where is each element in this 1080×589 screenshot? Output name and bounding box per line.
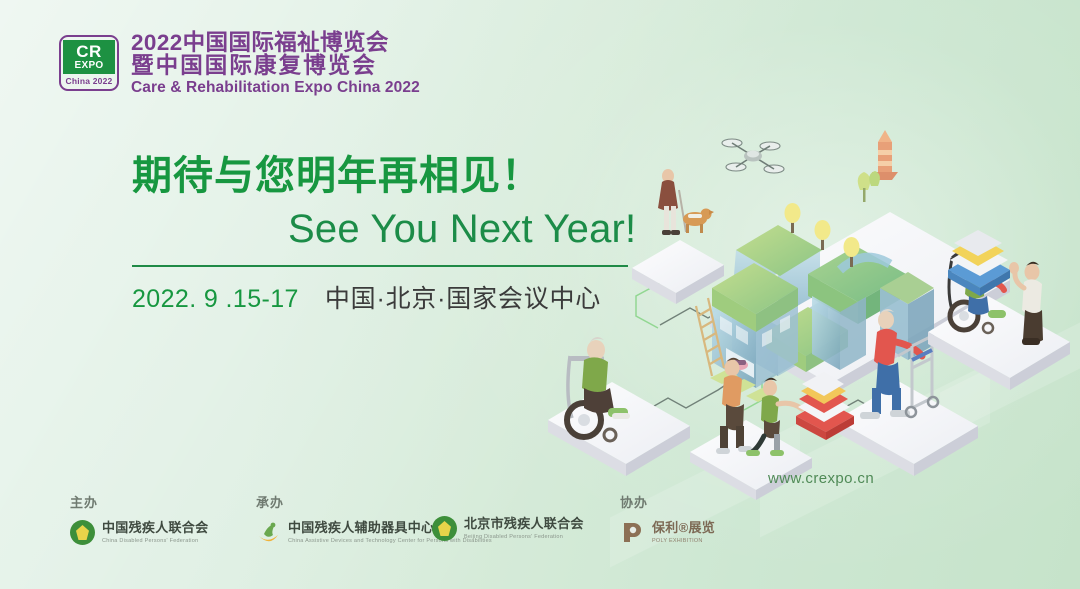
platform-child-wheelchair (928, 252, 1070, 390)
floor-tiles (710, 370, 774, 402)
obelisk-monument (872, 130, 898, 180)
logo-china-year-text: China 2022 (66, 76, 113, 86)
sponsor-logo-row: 北京市残疾人联合会 Beijing Disabled Persons' Fede… (432, 516, 584, 541)
plum-blossom-emblem-icon (70, 520, 95, 545)
rooftop-trees (785, 171, 880, 267)
cr-letter-building (712, 225, 934, 388)
stacked-book-blocks-blue (948, 230, 1010, 296)
bg-ghost-panel-3 (940, 307, 1080, 438)
figure-runner-adult (716, 358, 752, 454)
sponsor-name-en: POLY EXHIBITION (652, 538, 715, 544)
platform-rolling-walker (836, 309, 978, 476)
sponsor-name-cn: 保利®展览 (652, 521, 715, 536)
plum-blossom-emblem-icon (432, 516, 457, 541)
sponsor-group-coorganizer: 协办 保利®展览 POLY EXHIBITION (620, 492, 715, 545)
event-date: 2022. 9 .15-17 (132, 285, 299, 314)
poly-exhibition-emblem-icon (620, 520, 645, 545)
headline-chinese: 期待与您明年再相见！ (132, 154, 636, 199)
headline-divider (132, 265, 628, 267)
figure-guide-dog (683, 209, 714, 234)
storefront-detail (726, 348, 754, 378)
event-venue: 中国·北京·国家会议中心 (325, 279, 601, 315)
sponsor-logo-row: 中国残疾人联合会 China Disabled Persons' Federat… (70, 520, 208, 545)
website-url[interactable]: www.crexpo.cn (768, 470, 874, 487)
figure-child-wheelchair (949, 252, 1006, 333)
sponsor-group-organizer: 主办 中国残疾人联合会 China Disabled Persons' Fede… (70, 492, 208, 545)
headline-meta-row: 2022. 9 .15-17 中国·北京·国家会议中心 (132, 279, 636, 315)
header-line3-en: Care & Rehabilitation Expo China 2022 (131, 80, 420, 96)
ladder (696, 298, 724, 376)
logo-expo-text: EXPO (75, 61, 104, 71)
logo-cr-text: CR (76, 43, 102, 60)
sponsor-names: 北京市残疾人联合会 Beijing Disabled Persons' Fede… (464, 517, 584, 540)
sponsor-name-cn: 北京市残疾人联合会 (464, 517, 584, 532)
cr-expo-logo-icon: CR EXPO China 2022 (59, 35, 119, 91)
sponsor-role-label: 承办 (256, 492, 492, 511)
figure-runner-child-prosthetic (746, 378, 802, 456)
drone-icon (722, 139, 784, 173)
sponsor-bar: 主办 中国残疾人联合会 China Disabled Persons' Fede… (0, 492, 1080, 562)
headline-block: 期待与您明年再相见！ See You Next Year! 2022. 9 .1… (132, 154, 636, 315)
figure-man-with-cane (658, 169, 686, 235)
headline-english: See You Next Year! (288, 207, 636, 252)
figure-man-walker (860, 309, 938, 419)
figure-elderly-wheelchair (567, 337, 630, 441)
platform-guide-dog (632, 169, 724, 304)
expo-poster: CR EXPO China 2022 2022中国国际福祉博览会 暨中国国际康复… (0, 0, 1080, 589)
expo-header: CR EXPO China 2022 2022中国国际福祉博览会 暨中国国际康复… (59, 31, 420, 96)
sponsor-name-cn: 中国残疾人联合会 (102, 521, 208, 536)
sponsor-group-beijing: 北京市残疾人联合会 Beijing Disabled Persons' Fede… (432, 516, 584, 541)
sponsor-names: 中国残疾人联合会 China Disabled Persons' Federat… (102, 521, 208, 544)
assistive-device-emblem-icon (256, 520, 281, 545)
sponsor-name-en: China Disabled Persons' Federation (102, 538, 208, 544)
sponsor-name-en: Beijing Disabled Persons' Federation (464, 534, 584, 540)
sponsor-logo-row: 保利®展览 POLY EXHIBITION (620, 520, 715, 545)
sponsor-role-label: 协办 (620, 492, 715, 511)
connector-paths-green (636, 266, 780, 410)
figure-adult-waving (1009, 262, 1043, 345)
platform-wheelchair-elderly (548, 337, 690, 476)
header-line1-cn: 2022中国国际福祉博览会 (131, 31, 420, 54)
stacked-book-blocks-red (796, 372, 854, 440)
header-line2-cn: 暨中国国际康复博览会 (131, 54, 420, 77)
main-platform (710, 212, 1010, 396)
header-title-block: 2022中国国际福祉博览会 暨中国国际康复博览会 Care & Rehabili… (131, 31, 420, 96)
logo-green-square: CR EXPO (63, 40, 115, 74)
connector-paths (630, 302, 970, 420)
sponsor-role-label: 主办 (70, 492, 208, 511)
sponsor-names: 保利®展览 POLY EXHIBITION (652, 521, 715, 544)
